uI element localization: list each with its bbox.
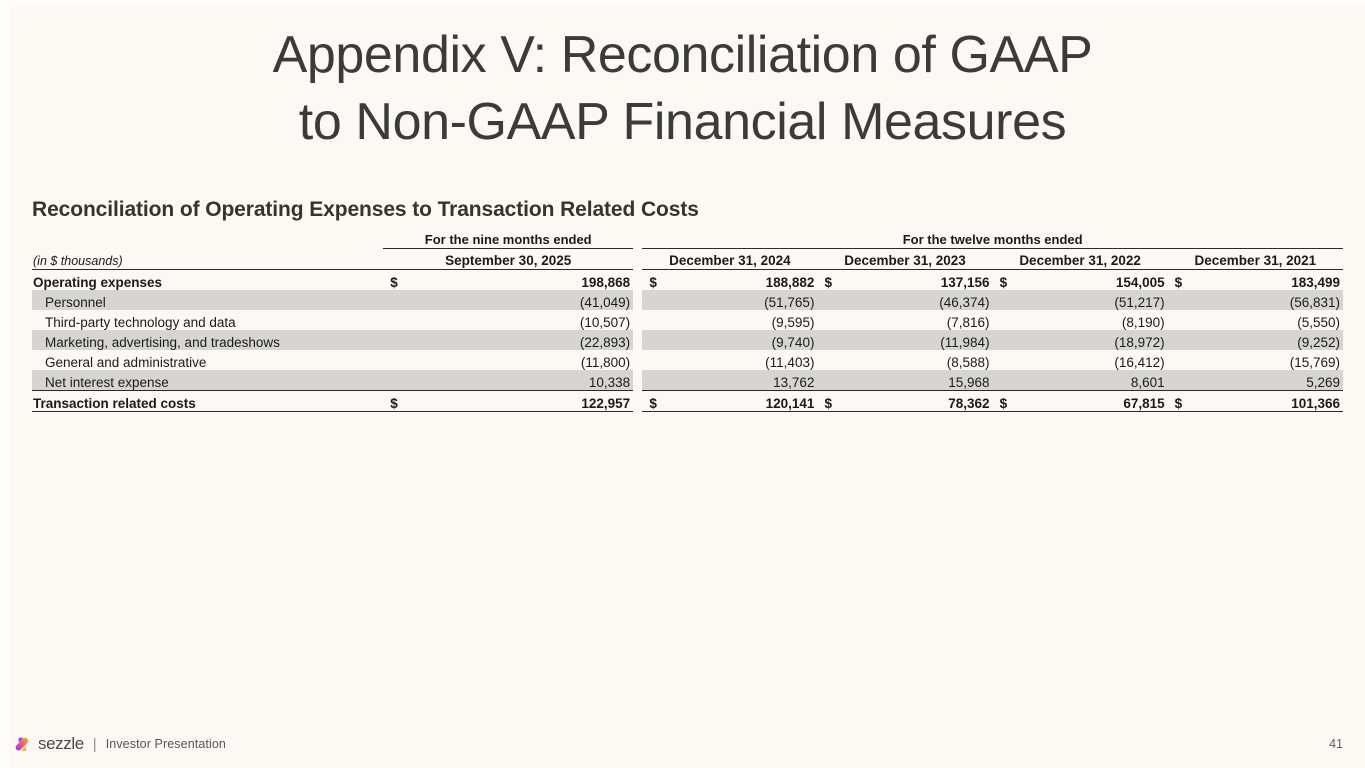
cell-value: 188,882 [673,270,817,291]
brand-name: sezzle [38,734,84,754]
sezzle-logo-icon [14,736,31,753]
currency-symbol [1168,350,1199,370]
currency-symbol [993,350,1024,370]
cell-value: 154,005 [1023,270,1167,291]
column-gap [633,350,642,370]
currency-symbol [817,310,848,330]
row-label: General and administrative [32,350,383,370]
cell-value: (41,049) [414,290,633,310]
column-header-3: December 31, 2022 [993,249,1168,270]
column-gap [633,249,642,270]
currency-symbol [383,330,414,350]
table-row: General and administrative(11,800)(11,40… [32,350,1343,370]
currency-symbol [1168,290,1199,310]
group-header-twelve-months: For the twelve months ended [642,229,1343,249]
currency-symbol: $ [817,270,848,291]
row-label: Operating expenses [32,270,383,291]
title-line-2: to Non-GAAP Financial Measures [0,89,1365,156]
group-header-nine-months: For the nine months ended [383,229,633,249]
currency-symbol [993,330,1024,350]
row-label: Third-party technology and data [32,310,383,330]
cell-value: 183,499 [1198,270,1343,291]
page-number: 41 [1329,737,1343,751]
cell-value: (8,588) [848,350,992,370]
column-gap [633,330,642,350]
currency-symbol [642,370,673,391]
cell-value: 122,957 [414,391,633,412]
cell-value: (11,403) [673,350,817,370]
currency-symbol: $ [817,391,848,412]
column-header-1: December 31, 2024 [642,249,817,270]
table-row: Marketing, advertising, and tradeshows(2… [32,330,1343,350]
cell-value: (8,190) [1023,310,1167,330]
footer-label: Investor Presentation [106,737,226,751]
section-heading: Reconciliation of Operating Expenses to … [32,198,699,222]
currency-symbol [383,310,414,330]
currency-symbol: $ [993,270,1024,291]
table-row: Transaction related costs$122,957$120,14… [32,391,1343,412]
reconciliation-table: For the nine months endedFor the twelve … [32,229,1343,412]
cell-value: (18,972) [1023,330,1167,350]
currency-symbol: $ [993,391,1024,412]
currency-symbol: $ [1168,391,1199,412]
column-gap [633,290,642,310]
cell-value: 15,968 [848,370,992,391]
cell-value: (9,252) [1198,330,1343,350]
currency-symbol [642,330,673,350]
cell-value: (51,765) [673,290,817,310]
cell-value: 67,815 [1023,391,1167,412]
column-header-0: September 30, 2025 [383,249,633,270]
currency-symbol [817,290,848,310]
cell-value: 137,156 [848,270,992,291]
cell-value: (15,769) [1198,350,1343,370]
cell-value: (9,740) [673,330,817,350]
currency-symbol [642,290,673,310]
column-gap [633,229,642,249]
currency-symbol: $ [642,270,673,291]
cell-value: (10,507) [414,310,633,330]
row-label: Marketing, advertising, and tradeshows [32,330,383,350]
cell-value: (11,984) [848,330,992,350]
footer: sezzle | Investor Presentation [14,734,226,754]
cell-value: 198,868 [414,270,633,291]
table-column-header-row: (in $ thousands)September 30, 2025Decemb… [32,249,1343,270]
currency-symbol: $ [642,391,673,412]
cell-value: 5,269 [1198,370,1343,391]
table-row: Personnel(41,049)(51,765)(46,374)(51,217… [32,290,1343,310]
currency-symbol: $ [383,270,414,291]
title-line-1: Appendix V: Reconciliation of GAAP [0,22,1365,89]
currency-symbol [383,350,414,370]
cell-value: (5,550) [1198,310,1343,330]
currency-symbol [383,370,414,391]
cell-value: (9,595) [673,310,817,330]
cell-value: (7,816) [848,310,992,330]
cell-value: (16,412) [1023,350,1167,370]
currency-symbol [1168,310,1199,330]
cell-value: 8,601 [1023,370,1167,391]
cell-value: (11,800) [414,350,633,370]
cell-value: (46,374) [848,290,992,310]
row-label: Net interest expense [32,370,383,391]
cell-value: 120,141 [673,391,817,412]
currency-symbol [642,310,673,330]
slide: Appendix V: Reconciliation of GAAP to No… [0,0,1365,768]
group-header-spacer [32,229,383,249]
cell-value: (56,831) [1198,290,1343,310]
units-note: (in $ thousands) [32,249,383,270]
cell-value: 78,362 [848,391,992,412]
reconciliation-table-area: For the nine months endedFor the twelve … [32,229,1343,412]
column-gap [633,310,642,330]
currency-symbol [642,350,673,370]
row-label: Personnel [32,290,383,310]
currency-symbol [817,370,848,391]
cell-value: (22,893) [414,330,633,350]
cell-value: 10,338 [414,370,633,391]
currency-symbol: $ [1168,270,1199,291]
footer-separator: | [93,736,97,753]
currency-symbol: $ [383,391,414,412]
currency-symbol [817,330,848,350]
currency-symbol [1168,330,1199,350]
currency-symbol [993,290,1024,310]
page-title: Appendix V: Reconciliation of GAAP to No… [0,22,1365,156]
cell-value: 13,762 [673,370,817,391]
currency-symbol [1168,370,1199,391]
currency-symbol [993,310,1024,330]
cell-value: 101,366 [1198,391,1343,412]
column-gap [633,391,642,412]
cell-value: (51,217) [1023,290,1167,310]
table-group-header-row: For the nine months endedFor the twelve … [32,229,1343,249]
column-header-4: December 31, 2021 [1168,249,1343,270]
table-row: Net interest expense10,33813,76215,9688,… [32,370,1343,391]
row-label: Transaction related costs [32,391,383,412]
column-gap [633,370,642,391]
table-row: Third-party technology and data(10,507)(… [32,310,1343,330]
table-row: Operating expenses$198,868$188,882$137,1… [32,270,1343,291]
currency-symbol [993,370,1024,391]
currency-symbol [383,290,414,310]
currency-symbol [817,350,848,370]
column-header-2: December 31, 2023 [817,249,992,270]
column-gap [633,270,642,291]
